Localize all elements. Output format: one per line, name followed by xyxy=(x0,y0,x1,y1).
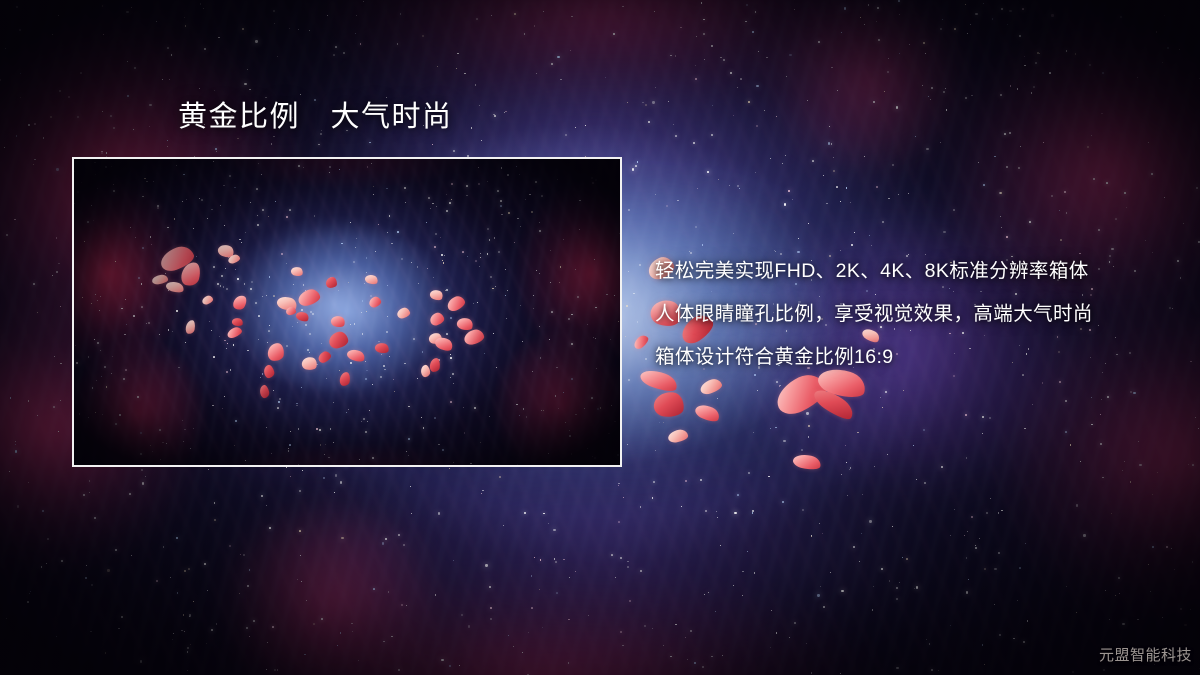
body-text-block: 轻松完美实现FHD、2K、4K、8K标准分辨率箱体 人体眼睛瞳孔比例，享受视觉效… xyxy=(655,250,1175,379)
frame-vignette xyxy=(74,159,620,465)
page-title: 黄金比例 大气时尚 xyxy=(178,101,453,134)
frame-content xyxy=(74,159,620,465)
body-line-3: 箱体设计符合黄金比例16:9 xyxy=(655,336,1175,379)
watermark: 元盟智能科技 xyxy=(1099,644,1192,665)
body-line-1: 轻松完美实现FHD、2K、4K、8K标准分辨率箱体 xyxy=(655,250,1175,293)
body-line-2: 人体眼睛瞳孔比例，享受视觉效果，高端大气时尚 xyxy=(655,293,1175,336)
slide-canvas: 黄金比例 大气时尚 轻松完美实现FHD、2K、4K、8K标准分辨率箱体 人体眼睛… xyxy=(0,0,1200,675)
nebula-photo-frame[interactable] xyxy=(72,157,622,467)
